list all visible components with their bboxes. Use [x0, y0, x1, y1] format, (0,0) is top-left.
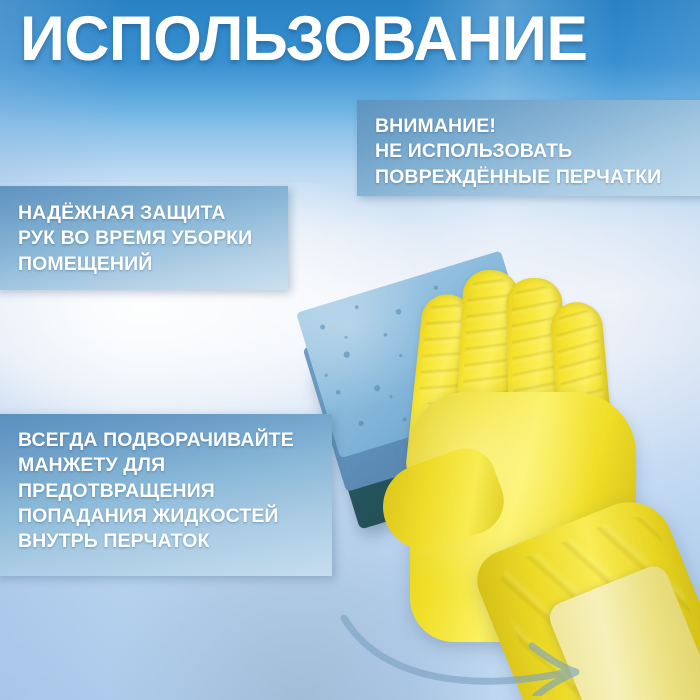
warning-line-2: НЕ ИСПОЛЬЗОВАТЬ	[375, 139, 700, 164]
warning-box-lines: ВНИМАНИЕ! НЕ ИСПОЛЬЗОВАТЬ ПОВРЕЖДЁННЫЕ П…	[375, 114, 700, 190]
page-title: ИСПОЛЬЗОВАНИЕ	[20, 6, 678, 72]
protection-line-2: РУК ВО ВРЕМЯ УБОРКИ	[18, 226, 288, 251]
cuff-box: ВСЕГДА ПОДВОРАЧИВАЙТЕ МАНЖЕТУ ДЛЯ ПРЕДОТ…	[0, 414, 332, 576]
protection-box: НАДЁЖНАЯ ЗАЩИТА РУК ВО ВРЕМЯ УБОРКИ ПОМЕ…	[0, 186, 288, 290]
warning-line-3: ПОВРЕЖДЁННЫЕ ПЕРЧАТКИ	[375, 165, 700, 190]
cuff-line-1: ВСЕГДА ПОДВОРАЧИВАЙТЕ	[18, 428, 332, 453]
cuff-line-4: ПОПАДАНИЯ ЖИДКОСТЕЙ	[18, 504, 332, 529]
cuff-box-lines: ВСЕГДА ПОДВОРАЧИВАЙТЕ МАНЖЕТУ ДЛЯ ПРЕДОТ…	[18, 428, 332, 555]
poster: ИСПОЛЬЗОВАНИЕ ВНИМАНИЕ! НЕ ИСПОЛЬЗОВАТЬ …	[0, 0, 700, 700]
protection-line-3: ПОМЕЩЕНИЙ	[18, 252, 288, 277]
warning-line-1: ВНИМАНИЕ!	[375, 114, 700, 139]
curved-arrow-icon	[336, 586, 616, 696]
cuff-line-5: ВНУТРЬ ПЕРЧАТОК	[18, 529, 332, 554]
cuff-line-2: МАНЖЕТУ ДЛЯ	[18, 453, 332, 478]
cuff-line-3: ПРЕДОТВРАЩЕНИЯ	[18, 479, 332, 504]
protection-line-1: НАДЁЖНАЯ ЗАЩИТА	[18, 201, 288, 226]
protection-box-lines: НАДЁЖНАЯ ЗАЩИТА РУК ВО ВРЕМЯ УБОРКИ ПОМЕ…	[18, 201, 288, 277]
warning-box: ВНИМАНИЕ! НЕ ИСПОЛЬЗОВАТЬ ПОВРЕЖДЁННЫЕ П…	[357, 100, 700, 196]
